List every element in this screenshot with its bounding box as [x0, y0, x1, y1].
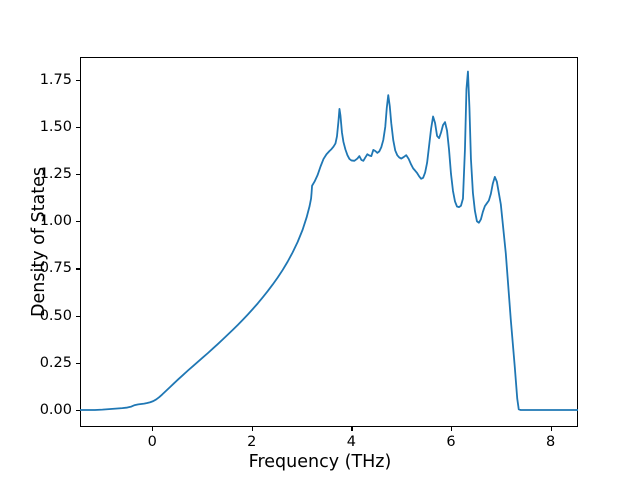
x-tick-label: 0	[148, 434, 157, 450]
x-tick-mark	[252, 427, 253, 431]
x-tick-mark	[451, 427, 452, 431]
dos-line-plot	[80, 57, 578, 427]
x-tick-label: 2	[247, 434, 256, 450]
dos-curve	[80, 72, 578, 410]
x-axis-label: Frequency (THz)	[0, 452, 640, 472]
y-tick-mark	[76, 221, 80, 222]
y-tick-mark	[76, 268, 80, 269]
x-tick-label: 4	[347, 434, 356, 450]
x-tick-mark	[152, 427, 153, 431]
y-tick-mark	[76, 410, 80, 411]
x-tick-label: 8	[546, 434, 555, 450]
y-tick-mark	[76, 174, 80, 175]
x-tick-mark	[551, 427, 552, 431]
x-tick-mark	[351, 427, 352, 431]
y-tick-mark	[76, 316, 80, 317]
matplotlib-figure: 0.000.250.500.751.001.251.501.75 02468 F…	[0, 0, 640, 480]
y-axis-label: Density of States	[26, 57, 52, 427]
y-tick-mark	[76, 127, 80, 128]
y-tick-mark	[76, 80, 80, 81]
y-tick-mark	[76, 363, 80, 364]
x-tick-label: 6	[446, 434, 455, 450]
